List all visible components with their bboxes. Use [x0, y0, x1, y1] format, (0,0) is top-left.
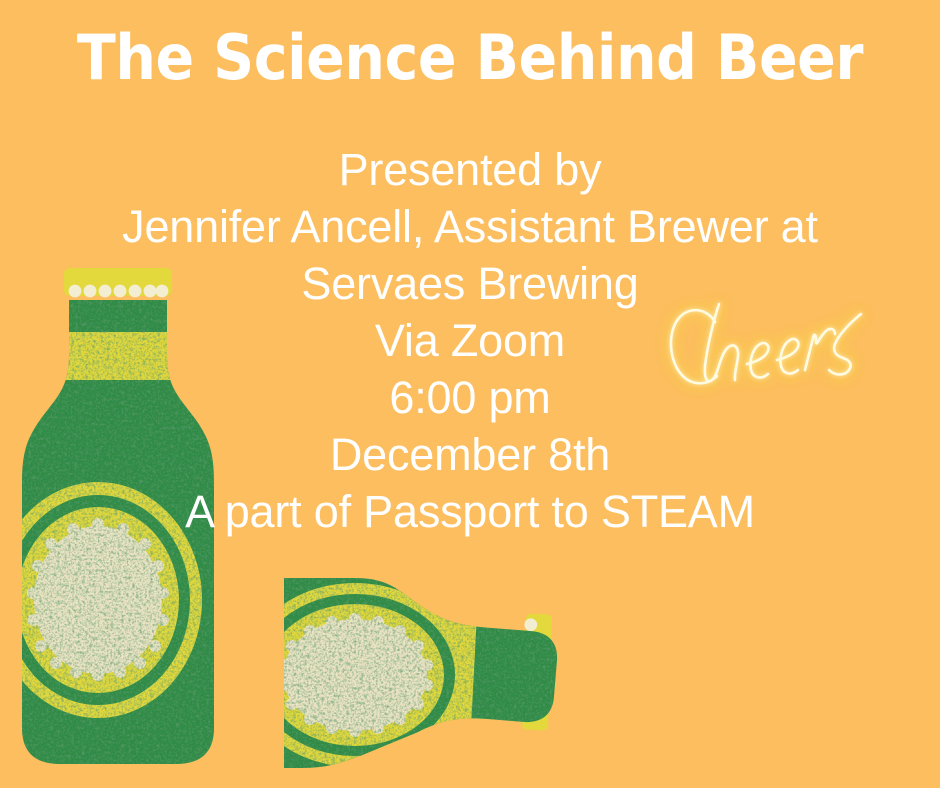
horizontal-beer-bottle — [243, 568, 570, 783]
platform-line: Via Zoom — [0, 312, 940, 369]
event-details: Presented by Jennifer Ancell, Assistant … — [0, 141, 940, 540]
date-line: December 8th — [0, 426, 940, 483]
presented-by-line: Presented by — [0, 141, 940, 198]
organization-line: Servaes Brewing — [0, 255, 940, 312]
event-poster: The Science Behind Beer Presented by Jen… — [0, 0, 940, 788]
page-title: The Science Behind Beer — [38, 22, 903, 94]
presenter-name-line: Jennifer Ancell, Assistant Brewer at — [0, 198, 940, 255]
series-line: A part of Passport to STEAM — [0, 483, 940, 540]
time-line: 6:00 pm — [0, 369, 940, 426]
